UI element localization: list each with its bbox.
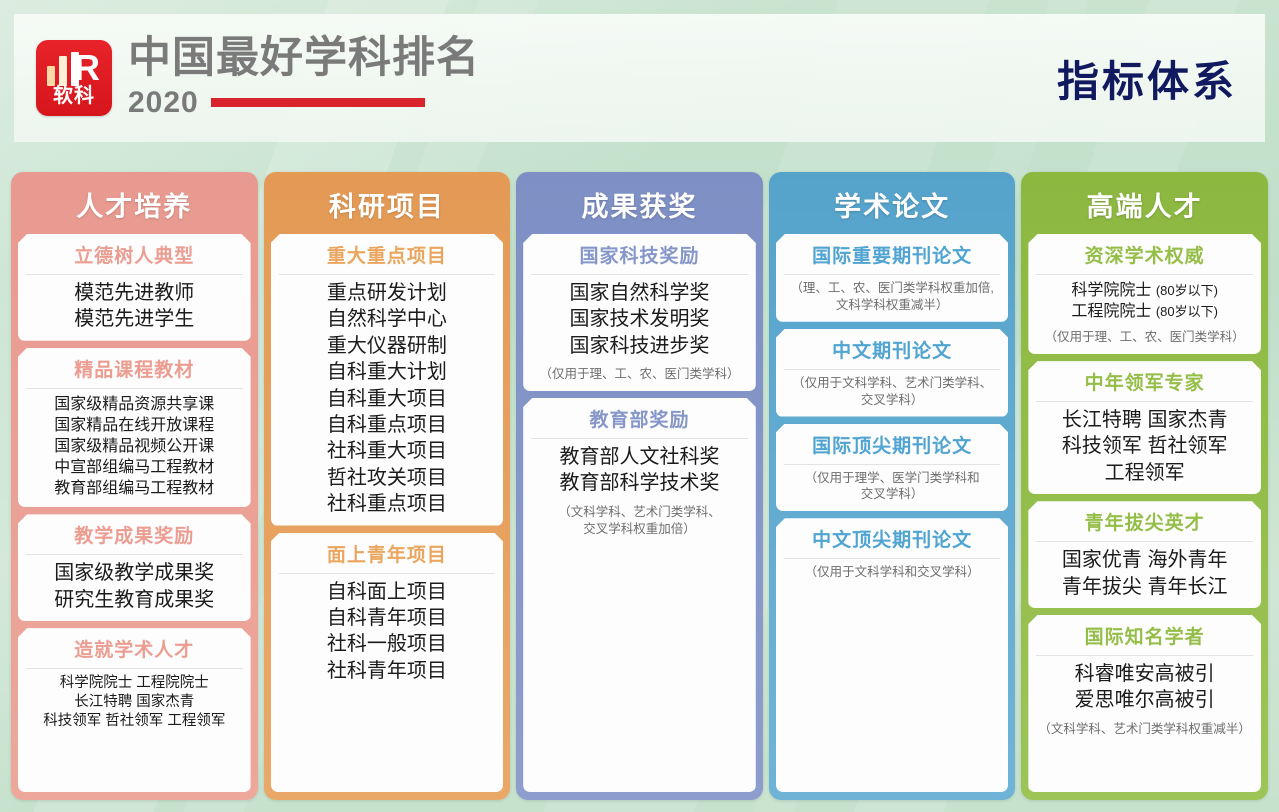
brand-title: 中国最好学科排名: [128, 36, 480, 81]
card-divider: [784, 558, 1001, 559]
indicator-item: 国家级教学成果奖: [24, 560, 245, 586]
indicator-item: 国家精品在线开放课程: [24, 415, 245, 436]
indicator-item: 科睿唯安高被引: [1034, 661, 1255, 687]
indicator-card: 中文期刊论文（仅用于文科学科、艺术门类学科、交叉学科）: [776, 329, 1009, 417]
column-top-talent: 高端人才资深学术权威科学院院士 (80岁以下)工程院院士 (80岁以下)（仅用于…: [1021, 172, 1268, 800]
brand-subline: 2020: [128, 86, 480, 120]
indicator-item: 国家优青 海外青年: [1034, 547, 1255, 573]
card-divider: [784, 369, 1001, 370]
indicator-item: 长江特聘 国家杰青: [24, 693, 245, 712]
indicator-list: 模范先进教师模范先进学生: [24, 280, 245, 333]
indicator-item: 青年拔尖 青年长江: [1034, 574, 1255, 600]
column-award-achievements: 成果获奖国家科技奖励国家自然科学奖国家技术发明奖国家科技进步奖（仅用于理、工、农…: [516, 172, 763, 800]
indicator-list: 科学院院士 工程院院士长江特聘 国家杰青科技领军 哲社领军 工程领军: [24, 674, 245, 731]
indicator-item: 自科重大计划: [277, 359, 498, 385]
indicator-list: 教育部人文社科奖教育部科学技术奖: [529, 444, 750, 497]
card-title: 国家科技奖励: [529, 234, 750, 274]
card-title: 教育部奖励: [529, 398, 750, 438]
card-note: （仅用于理学、医学门类学科和交叉学科）: [782, 470, 1003, 504]
indicator-item: 国家级精品视频公开课: [24, 436, 245, 457]
indicator-card: 面上青年项目自科面上项目自科青年项目社科一般项目社科青年项目: [271, 533, 504, 792]
card-title: 国际重要期刊论文: [782, 234, 1003, 274]
card-divider: [26, 668, 243, 669]
brand: R 软科 中国最好学科排名 2020: [36, 36, 480, 119]
indicator-item: 工程领军: [1034, 460, 1255, 486]
indicator-item: 长江特聘 国家杰青: [1034, 407, 1255, 433]
column-title: 人才培养: [18, 178, 251, 234]
card-divider: [26, 554, 243, 555]
card-note: （理、工、农、医门类学科权重加倍,文科学科权重减半）: [782, 280, 1003, 314]
card-title: 造就学术人才: [24, 628, 245, 668]
indicator-item: 国家科技进步奖: [529, 333, 750, 359]
indicator-card: 国际重要期刊论文（理、工、农、医门类学科权重加倍,文科学科权重减半）: [776, 234, 1009, 322]
card-divider: [1036, 655, 1253, 656]
column-talent-cultivation: 人才培养立德树人典型模范先进教师模范先进学生精品课程教材国家级精品资源共享课国家…: [11, 172, 258, 800]
card-note: （仅用于理、工、农、医门类学科）: [529, 366, 750, 383]
indicator-card: 青年拔尖英才国家优青 海外青年青年拔尖 青年长江: [1028, 501, 1261, 608]
card-title: 教学成果奖励: [24, 514, 245, 554]
card-note: （文科学科、艺术门类学科权重减半）: [1034, 721, 1255, 738]
indicator-list: 国家优青 海外青年青年拔尖 青年长江: [1034, 547, 1255, 600]
column-title: 成果获奖: [523, 178, 756, 234]
indicator-item: 教育部组编马工程教材: [24, 478, 245, 499]
indicator-item: 科学院院士 (80岁以下): [1034, 280, 1255, 301]
indicator-item: 模范先进学生: [24, 306, 245, 332]
card-divider: [784, 464, 1001, 465]
column-title: 科研项目: [271, 178, 504, 234]
card-title: 中年领军专家: [1034, 361, 1255, 401]
indicator-item-qualifier: (80岁以下): [1156, 304, 1218, 319]
indicator-item: 国家技术发明奖: [529, 306, 750, 332]
indicator-list: 国家级教学成果奖研究生教育成果奖: [24, 560, 245, 613]
indicator-list: 重点研发计划自然科学中心重大仪器研制自科重大计划自科重大项目自科重点项目社科重大…: [277, 280, 498, 518]
indicator-item: 中宣部组编马工程教材: [24, 457, 245, 478]
card-title: 面上青年项目: [277, 533, 498, 573]
indicator-item: 自科面上项目: [277, 579, 498, 605]
card-divider: [1036, 401, 1253, 402]
indicator-list: 国家级精品资源共享课国家精品在线开放课程国家级精品视频公开课中宣部组编马工程教材…: [24, 394, 245, 500]
brand-year: 2020: [128, 86, 199, 120]
indicator-card: 教学成果奖励国家级教学成果奖研究生教育成果奖: [18, 514, 251, 621]
indicator-item: 自科青年项目: [277, 605, 498, 631]
indicator-card: 国际知名学者科睿唯安高被引爱思唯尔高被引（文科学科、艺术门类学科权重减半）: [1028, 615, 1261, 792]
indicator-item: 爱思唯尔高被引: [1034, 687, 1255, 713]
page-header: R 软科 中国最好学科排名 2020 指标体系: [14, 14, 1265, 142]
indicator-list: 科学院院士 (80岁以下)工程院院士 (80岁以下): [1034, 280, 1255, 322]
card-divider: [1036, 274, 1253, 275]
card-divider: [26, 388, 243, 389]
card-title: 重大重点项目: [277, 234, 498, 274]
card-title: 立德树人典型: [24, 234, 245, 274]
indicator-item: 教育部科学技术奖: [529, 470, 750, 496]
indicator-item: 科学院院士 工程院院士: [24, 674, 245, 693]
indicator-item: 重大仪器研制: [277, 333, 498, 359]
indicator-card: 重大重点项目重点研发计划自然科学中心重大仪器研制自科重大计划自科重大项目自科重点…: [271, 234, 504, 526]
indicator-item: 国家级精品资源共享课: [24, 394, 245, 415]
indicator-card: 国家科技奖励国家自然科学奖国家技术发明奖国家科技进步奖（仅用于理、工、农、医门类…: [523, 234, 756, 391]
column-research-projects: 科研项目重大重点项目重点研发计划自然科学中心重大仪器研制自科重大计划自科重大项目…: [264, 172, 511, 800]
indicator-columns: 人才培养立德树人典型模范先进教师模范先进学生精品课程教材国家级精品资源共享课国家…: [11, 172, 1268, 800]
indicator-item: 社科青年项目: [277, 658, 498, 684]
indicator-list: 长江特聘 国家杰青科技领军 哲社领军工程领军: [1034, 407, 1255, 486]
indicator-list: 自科面上项目自科青年项目社科一般项目社科青年项目: [277, 579, 498, 685]
logo-chinese-text: 软科: [36, 79, 112, 108]
indicator-card: 国际顶尖期刊论文（仅用于理学、医学门类学科和交叉学科）: [776, 424, 1009, 512]
brand-rule-divider: [211, 98, 425, 107]
card-title: 中文顶尖期刊论文: [782, 518, 1003, 558]
brand-text: 中国最好学科排名 2020: [128, 36, 480, 119]
column-title: 高端人才: [1028, 178, 1261, 234]
card-divider: [531, 274, 748, 275]
card-title: 国际顶尖期刊论文: [782, 424, 1003, 464]
indicator-item: 工程院院士 (80岁以下): [1034, 301, 1255, 322]
indicator-item: 哲社攻关项目: [277, 465, 498, 491]
card-title: 资深学术权威: [1034, 234, 1255, 274]
card-divider: [26, 274, 243, 275]
column-academic-papers: 学术论文国际重要期刊论文（理、工、农、医门类学科权重加倍,文科学科权重减半）中文…: [769, 172, 1016, 800]
page-title: 指标体系: [1057, 48, 1237, 109]
card-title: 青年拔尖英才: [1034, 501, 1255, 541]
indicator-item: 模范先进教师: [24, 280, 245, 306]
card-divider: [1036, 541, 1253, 542]
indicator-card: 中文顶尖期刊论文（仅用于文科学科和交叉学科）: [776, 518, 1009, 792]
indicator-card: 中年领军专家长江特聘 国家杰青科技领军 哲社领军工程领军: [1028, 361, 1261, 494]
card-note: （仅用于文科学科、艺术门类学科、交叉学科）: [782, 375, 1003, 409]
card-divider: [531, 438, 748, 439]
indicator-item: 教育部人文社科奖: [529, 444, 750, 470]
indicator-card: 资深学术权威科学院院士 (80岁以下)工程院院士 (80岁以下)（仅用于理、工、…: [1028, 234, 1261, 354]
indicator-item: 社科一般项目: [277, 631, 498, 657]
indicator-item: 自然科学中心: [277, 306, 498, 332]
card-divider: [279, 274, 496, 275]
card-title: 精品课程教材: [24, 348, 245, 388]
indicator-item: 自科重点项目: [277, 412, 498, 438]
indicator-list: 科睿唯安高被引爱思唯尔高被引: [1034, 661, 1255, 714]
indicator-card: 立德树人典型模范先进教师模范先进学生: [18, 234, 251, 341]
card-note: （文科学科、艺术门类学科、交叉学科权重加倍）: [529, 504, 750, 538]
card-note: （仅用于文科学科和交叉学科）: [782, 564, 1003, 581]
card-title: 中文期刊论文: [782, 329, 1003, 369]
indicator-item: 重点研发计划: [277, 280, 498, 306]
card-title: 国际知名学者: [1034, 615, 1255, 655]
column-title: 学术论文: [776, 178, 1009, 234]
indicator-card: 精品课程教材国家级精品资源共享课国家精品在线开放课程国家级精品视频公开课中宣部组…: [18, 348, 251, 508]
indicator-item-qualifier: (80岁以下): [1156, 283, 1218, 298]
card-divider: [279, 573, 496, 574]
card-divider: [784, 274, 1001, 275]
indicator-item: 科技领军 哲社领军 工程领军: [24, 712, 245, 731]
indicator-item: 国家自然科学奖: [529, 280, 750, 306]
indicator-card: 教育部奖励教育部人文社科奖教育部科学技术奖（文科学科、艺术门类学科、交叉学科权重…: [523, 398, 756, 792]
indicator-item: 社科重点项目: [277, 491, 498, 517]
indicator-item: 研究生教育成果奖: [24, 587, 245, 613]
indicator-item: 社科重大项目: [277, 438, 498, 464]
indicator-card: 造就学术人才科学院院士 工程院院士长江特聘 国家杰青科技领军 哲社领军 工程领军: [18, 628, 251, 792]
indicator-item: 科技领军 哲社领军: [1034, 433, 1255, 459]
indicator-list: 国家自然科学奖国家技术发明奖国家科技进步奖: [529, 280, 750, 359]
indicator-item: 自科重大项目: [277, 386, 498, 412]
shanghairanking-logo-icon: R 软科: [36, 40, 112, 116]
card-note: （仅用于理、工、农、医门类学科）: [1034, 329, 1255, 346]
